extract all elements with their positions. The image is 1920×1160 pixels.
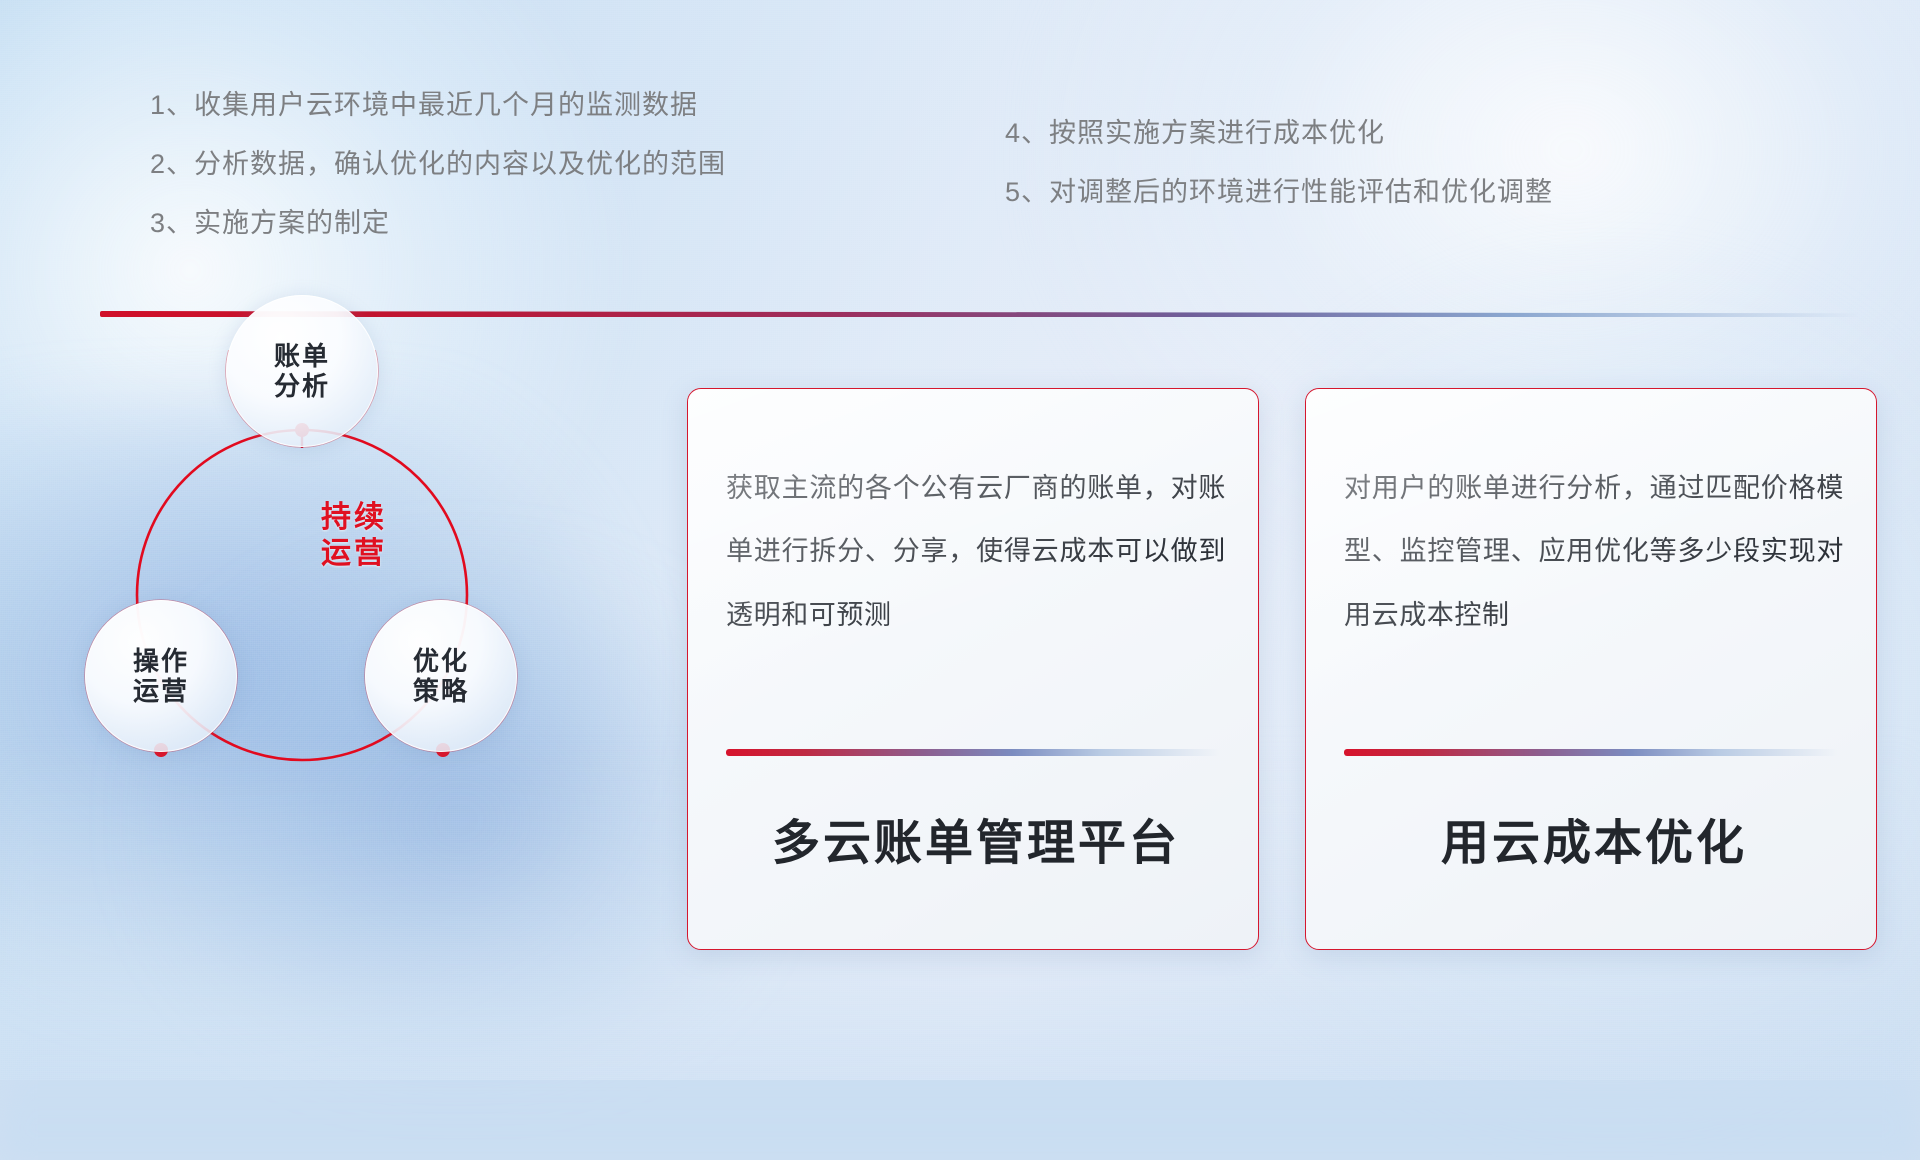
steps-right-column: 4、按照实施方案进行成本优化 5、对调整后的环境进行性能评估和优化调整 — [1005, 120, 1553, 206]
steps-section: 1、收集用户云环境中最近几个月的监测数据 2、分析数据，确认优化的内容以及优化的… — [0, 0, 1920, 300]
feature-card-cost-optimization-body: 对用户的账单进行分析，通过匹配价格模型、监控管理、应用优化等多少段实现对用云成本… — [1344, 457, 1844, 647]
continuous-operation-diagram: 账单 分析 操作 运营 优化 策略 持续 运营 — [80, 350, 550, 820]
center-label-line1: 持续 — [158, 500, 550, 536]
feature-card-cost-optimization-title: 用云成本优化 — [1344, 803, 1844, 873]
step-item-4: 4、按照实施方案进行成本优化 — [1005, 120, 1553, 147]
bubble-operations-line1: 操作 — [133, 646, 189, 676]
bubble-bill-analysis-line1: 账单 — [274, 341, 330, 371]
bubble-operations[interactable]: 操作 运营 — [85, 600, 237, 752]
bubble-optimization-strategy-line2: 策略 — [413, 676, 469, 706]
step-item-5: 5、对调整后的环境进行性能评估和优化调整 — [1005, 179, 1553, 206]
feature-card-multicloud-billing-body: 获取主流的各个公有云厂商的账单，对账单进行拆分、分享，使得云成本可以做到透明和可… — [726, 457, 1226, 647]
step-item-1: 1、收集用户云环境中最近几个月的监测数据 — [150, 92, 726, 119]
bubble-optimization-strategy-line1: 优化 — [413, 646, 469, 676]
steps-left-column: 1、收集用户云环境中最近几个月的监测数据 2、分析数据，确认优化的内容以及优化的… — [150, 92, 726, 237]
feature-card-multicloud-billing-divider — [726, 749, 1220, 756]
bubble-operations-line2: 运营 — [133, 676, 189, 706]
bubble-bill-analysis-line2: 分析 — [274, 371, 330, 401]
feature-card-cost-optimization[interactable]: 对用户的账单进行分析，通过匹配价格模型、监控管理、应用优化等多少段实现对用云成本… — [1305, 388, 1877, 950]
feature-card-multicloud-billing[interactable]: 获取主流的各个公有云厂商的账单，对账单进行拆分、分享，使得云成本可以做到透明和可… — [687, 388, 1259, 950]
step-item-2: 2、分析数据，确认优化的内容以及优化的范围 — [150, 151, 726, 178]
bubble-optimization-strategy[interactable]: 优化 策略 — [365, 600, 517, 752]
step-item-3: 3、实施方案的制定 — [150, 210, 726, 237]
center-label-line2: 运营 — [158, 536, 550, 572]
bubble-bill-analysis[interactable]: 账单 分析 — [226, 295, 378, 447]
diagram-center-label: 持续 运营 — [80, 500, 550, 572]
feature-card-cost-optimization-divider — [1344, 749, 1838, 756]
feature-card-multicloud-billing-title: 多云账单管理平台 — [726, 803, 1226, 873]
